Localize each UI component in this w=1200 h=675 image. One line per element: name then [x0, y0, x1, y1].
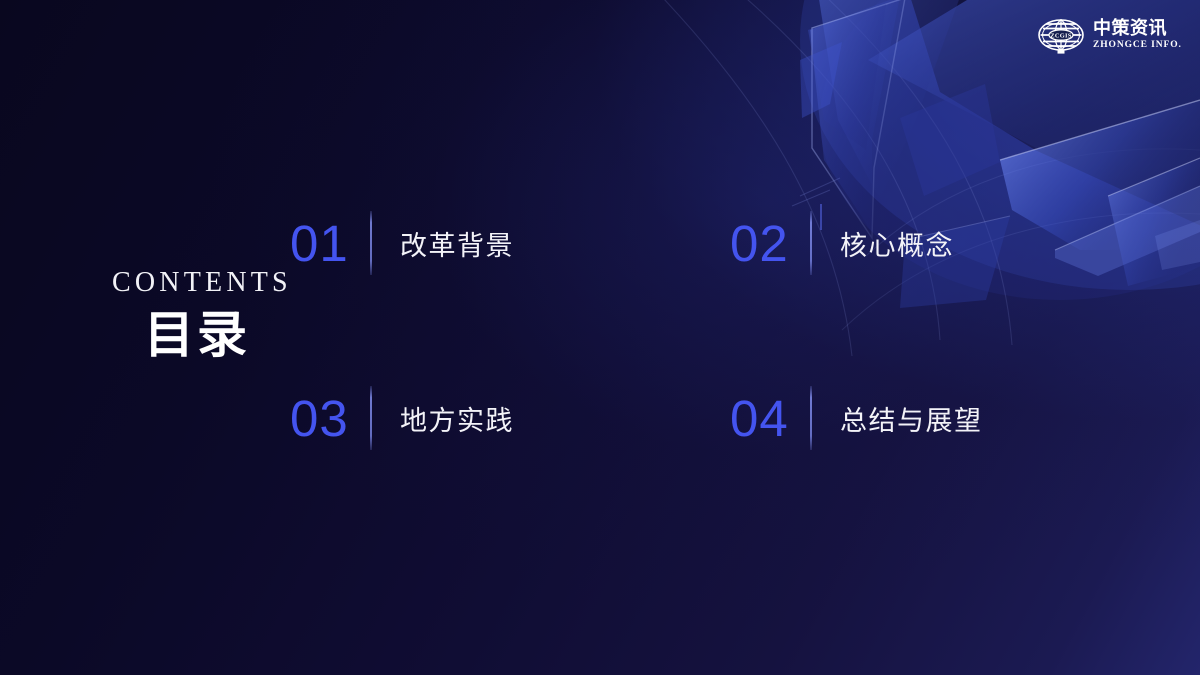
table-of-contents: 01 改革背景 02 核心概念 03 地方实践 04 总结与展望 — [290, 205, 1080, 555]
toc-item-04[interactable]: 04 总结与展望 — [730, 380, 1080, 456]
toc-number: 03 — [290, 393, 362, 444]
toc-number: 02 — [730, 218, 802, 269]
brand-name-cn: 中策资讯 — [1093, 20, 1167, 38]
brand-name-en: ZHONGCE INFO. — [1093, 41, 1182, 51]
slide-contents: ZCGIS 中策资讯 ZHONGCE INFO. CONTENTS 目录 01 … — [0, 0, 1200, 675]
toc-divider — [810, 386, 812, 450]
toc-label: 地方实践 — [400, 399, 514, 438]
toc-label: 改革背景 — [400, 224, 514, 263]
toc-label: 核心概念 — [840, 224, 954, 263]
toc-divider — [370, 386, 372, 450]
toc-label: 总结与展望 — [840, 399, 983, 438]
zcgis-globe-logo-icon: ZCGIS — [1038, 14, 1084, 56]
toc-number: 01 — [290, 218, 362, 269]
toc-divider — [810, 211, 812, 275]
toc-item-02[interactable]: 02 核心概念 — [730, 205, 1080, 281]
toc-divider — [370, 211, 372, 275]
toc-item-01[interactable]: 01 改革背景 — [290, 205, 730, 281]
brand-logo-text: 中策资讯 ZHONGCE INFO. — [1093, 20, 1182, 51]
toc-number: 04 — [730, 393, 802, 444]
svg-text:ZCGIS: ZCGIS — [1050, 32, 1072, 39]
brand-logo: ZCGIS 中策资讯 ZHONGCE INFO. — [1038, 14, 1182, 56]
toc-item-03[interactable]: 03 地方实践 — [290, 380, 730, 456]
